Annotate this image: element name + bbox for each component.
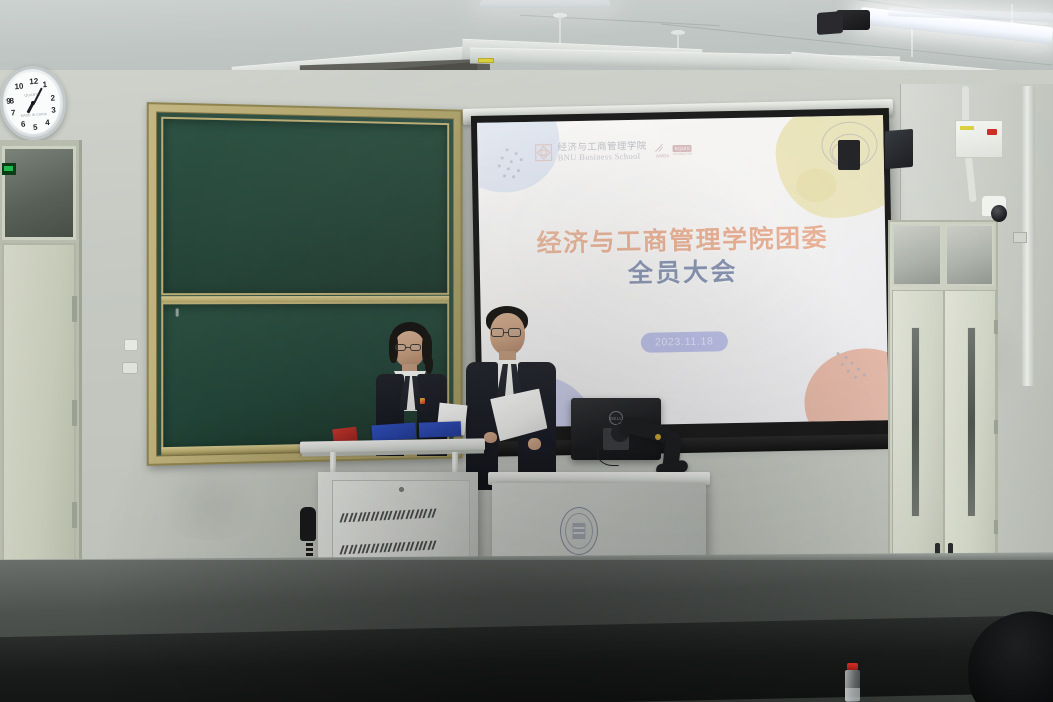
vent-row (341, 509, 436, 523)
glasses-left-lens (491, 328, 504, 337)
clock-number: 1 (42, 81, 47, 89)
vent-row (341, 541, 436, 555)
door-vision-panel (967, 327, 976, 517)
slide-logo-name-en: BNU Business School (558, 151, 647, 162)
exit-sign-icon (2, 163, 16, 175)
wall-stain (150, 470, 270, 540)
security-camera-dome-icon (982, 196, 1006, 216)
glasses-right-lens (508, 328, 521, 337)
clock-face: 12 1 2 3 4 5 6 7 8 9 10 QUARTZ MADE IN C… (4, 70, 62, 136)
glasses-left-lens (395, 344, 406, 351)
slide-logo: 经济与工商管理学院 BNU Business School AMBA EQUIS… (533, 140, 692, 163)
door-vision-panel (911, 327, 920, 517)
equipment-label (478, 58, 494, 63)
door-right-transom (892, 224, 994, 286)
bnu-business-school-emblem-icon (533, 142, 553, 162)
monitor-arm-indicator (655, 434, 661, 440)
door-hinge (994, 520, 998, 534)
water-bottle (845, 663, 860, 702)
ceiling-tube-light (480, 0, 610, 8)
hand-left (484, 432, 497, 443)
door-hinge (72, 400, 77, 426)
glasses-bridge (406, 347, 410, 348)
ceiling-speaker (817, 11, 843, 35)
slide-logo-text: 经济与工商管理学院 BNU Business School (557, 141, 646, 162)
door-hinge (72, 502, 77, 528)
door-left-leaf[interactable] (2, 243, 76, 567)
suit-jacket-left (466, 362, 498, 490)
clock-number: 7 (11, 109, 16, 117)
clock-number: 2 (50, 94, 55, 102)
clock-number: 3 (51, 106, 56, 114)
light-switch[interactable] (124, 339, 138, 351)
glasses-right-lens (410, 344, 421, 351)
door-hinge (72, 296, 77, 322)
monitor-brand-label: DELL (610, 416, 622, 421)
clock-number: 9 (6, 97, 11, 105)
hair-ponytail (425, 356, 433, 374)
junction-box (1013, 232, 1027, 243)
classroom-photo: 12 1 2 3 4 5 6 7 8 9 10 QUARTZ MADE IN C… (0, 0, 1053, 702)
emergency-alarm-box (955, 120, 1003, 158)
door-right-leaf-left[interactable] (892, 290, 944, 580)
audience-head-silhouette (967, 610, 1053, 702)
clock-number: 5 (33, 124, 38, 132)
accreditation-marks: AMBA EQUIS ACCREDITED (655, 142, 693, 159)
alarm-label (960, 126, 974, 130)
clock-sub-text: MADE IN CHINA (20, 112, 47, 118)
clock-number: 10 (14, 83, 23, 92)
amba-swoosh-icon (655, 142, 671, 153)
folder-blue-left (371, 422, 416, 441)
wall-mounted-speaker-black (838, 140, 860, 170)
clock-number: 6 (21, 120, 26, 128)
slide-title-block: 经济与工商管理学院团委 全员大会 (479, 221, 886, 293)
slide-date-badge: 2023.11.18 (641, 331, 728, 353)
lapel-badge (420, 398, 425, 404)
wall-telephone[interactable] (300, 507, 316, 541)
clock-number: 4 (45, 119, 50, 127)
slide-blob-peach (803, 347, 888, 427)
door-left-transom-window (2, 146, 76, 240)
door-hinge (994, 420, 998, 434)
folder-blue-right (419, 421, 461, 437)
power-outlet[interactable] (122, 362, 138, 374)
cabinet-lock-icon[interactable] (399, 487, 404, 492)
door-right-leaf-right[interactable] (944, 290, 996, 580)
clock-number: 12 (29, 77, 38, 86)
bottle-cap (847, 663, 858, 670)
chalk-mark (176, 308, 179, 316)
bottle-body (845, 670, 860, 702)
bottle-label (845, 688, 860, 701)
beijing-normal-university-seal-icon (560, 507, 598, 555)
alarm-led-icon (987, 129, 997, 135)
door-hinge (994, 320, 998, 334)
amba-label: AMBA (656, 153, 670, 158)
hanger-rod (559, 15, 561, 45)
blackboard-panel-upper (161, 117, 449, 296)
clock-center-pin (31, 101, 35, 105)
hand-right (528, 438, 541, 450)
seal-core-glyph (573, 523, 586, 539)
accreditation-sub-label: ACCREDITED (673, 151, 693, 155)
ceiling-projector-box (885, 129, 913, 169)
transom-pane (892, 224, 942, 286)
transom-pane (945, 224, 995, 286)
glasses-bridge (504, 332, 508, 333)
